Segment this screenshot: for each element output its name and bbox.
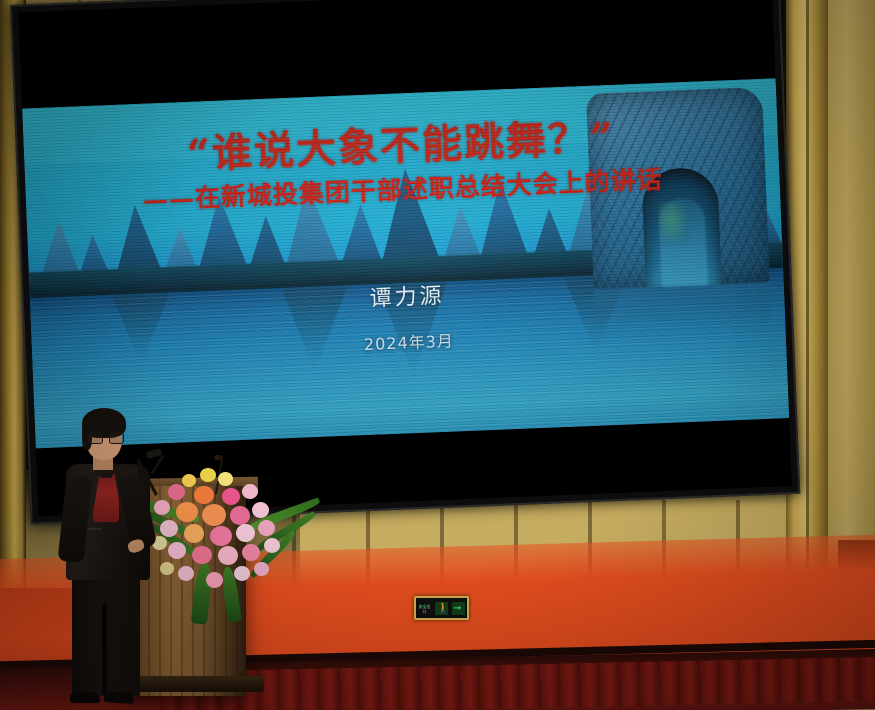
eyeglasses-icon [88,432,122,442]
microphone-head-secondary-icon [214,455,223,460]
exit-label-cell: 安全出口 [418,602,431,615]
presentation-slide: “谁说大象不能跳舞？” ——在新城投集团干部述职总结大会上的讲话 谭力源 202… [22,78,789,448]
speaker-shoe-left [70,692,100,703]
pillar-seam [806,0,809,620]
right-arrow-icon: ➞ [452,602,465,615]
speaker-person [60,406,180,706]
speaker-leg-gap [102,604,107,694]
exit-sign-label: 安全出口 [418,602,431,614]
conference-photo: “谁说大象不能跳舞？” ——在新城投集团干部述职总结大会上的讲话 谭力源 202… [0,0,875,710]
speaker-shoe-right [104,691,135,704]
arch-foliage [658,202,690,247]
emergency-exit-sign: 安全出口 🚶 ➞ [414,596,469,620]
running-person-icon: 🚶 [435,602,448,615]
